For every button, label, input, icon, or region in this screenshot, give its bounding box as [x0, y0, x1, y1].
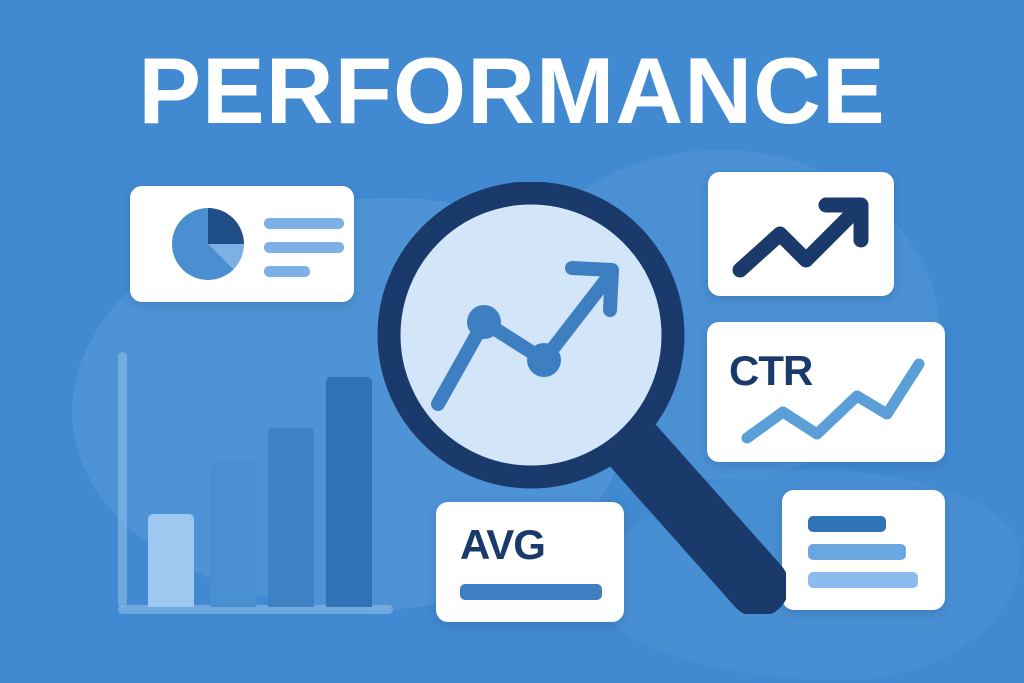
trend-point [527, 343, 561, 377]
bar-chart-bar [210, 461, 256, 607]
magnifying-glass-icon[interactable] [376, 182, 786, 614]
bar-chart-bar [268, 428, 314, 607]
list-card-line [808, 516, 886, 532]
pie-card-line [264, 266, 310, 277]
bar-chart [118, 352, 393, 614]
list-bars-card[interactable] [782, 490, 945, 610]
illustration-canvas: PERFORMANCE CTR AVG [0, 0, 1024, 683]
trend-point [467, 305, 501, 339]
pie-chart-card[interactable] [130, 186, 354, 302]
page-title: PERFORMANCE [0, 44, 1024, 138]
pie-chart-icon [172, 208, 244, 280]
pie-card-line [264, 242, 344, 253]
magnifier-lens [400, 204, 662, 466]
pie-card-line [264, 218, 344, 229]
list-card-line [808, 572, 918, 588]
bar-chart-bar [148, 514, 194, 607]
list-card-line [808, 544, 906, 560]
bar-chart-bar [326, 377, 372, 607]
bar-chart-y-axis [118, 352, 127, 608]
